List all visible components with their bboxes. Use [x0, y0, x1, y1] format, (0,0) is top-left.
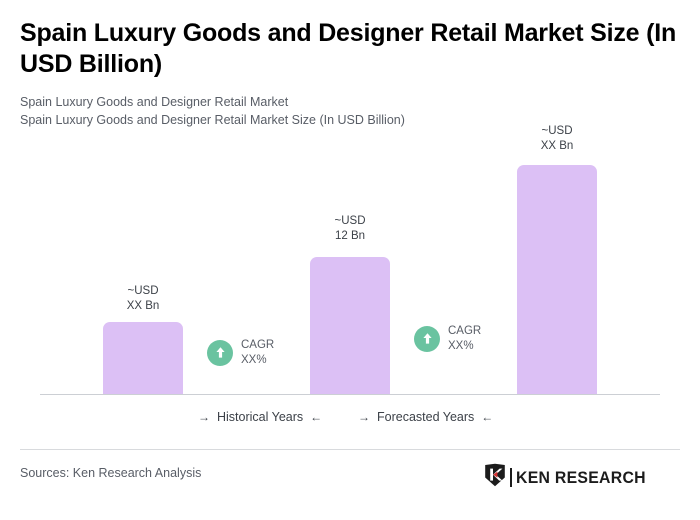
plot-area: ~USD XX Bn CAGRXX% ~USD 12 Bn CAGRXX% ~U — [0, 0, 700, 440]
axis-label-historical-years: → Historical Years ← — [198, 410, 322, 424]
bar-value-label-1: ~USD XX Bn — [103, 284, 183, 313]
ken-research-shield-icon — [484, 463, 506, 492]
arrow-right-icon: → — [358, 411, 370, 423]
arrow-up-icon — [414, 326, 440, 352]
source-note: Sources: Ken Research Analysis — [20, 466, 201, 480]
bar-value-label-2: ~USD 12 Bn — [310, 214, 390, 243]
arrow-right-icon: → — [198, 411, 210, 423]
brand-logo: KEN RESEARCH — [484, 463, 655, 492]
cagr-value-2: XX% — [448, 340, 474, 352]
cagr-annotation-historical[interactable]: CAGRXX% — [207, 338, 274, 367]
axis-baseline — [40, 394, 660, 395]
arrow-left-icon: ← — [481, 411, 493, 423]
cagr-annotation-forecast[interactable]: CAGRXX% — [414, 324, 481, 353]
bar-historical[interactable] — [103, 322, 183, 394]
cagr-value-1: XX% — [241, 354, 267, 366]
footer-divider — [20, 449, 680, 450]
chart-page: Spain Luxury Goods and Designer Retail M… — [0, 0, 700, 520]
axis-label-forecasted-years: → Forecasted Years ← — [358, 410, 493, 424]
cagr-title-1: CAGR — [241, 339, 274, 351]
bar-interim[interactable] — [310, 257, 390, 394]
cagr-title-2: CAGR — [448, 325, 481, 337]
brand-name: KEN RESEARCH — [516, 468, 646, 488]
logo-divider — [510, 468, 512, 487]
arrow-left-icon: ← — [310, 411, 322, 423]
bar-forecasted[interactable] — [517, 165, 597, 394]
cagr-label-forecast: CAGRXX% — [448, 324, 481, 353]
arrow-up-icon — [207, 340, 233, 366]
historical-years-text: Historical Years — [217, 410, 303, 424]
bar-value-label-3: ~USD XX Bn — [517, 124, 597, 153]
forecasted-years-text: Forecasted Years — [377, 410, 474, 424]
cagr-label-historical: CAGRXX% — [241, 338, 274, 367]
